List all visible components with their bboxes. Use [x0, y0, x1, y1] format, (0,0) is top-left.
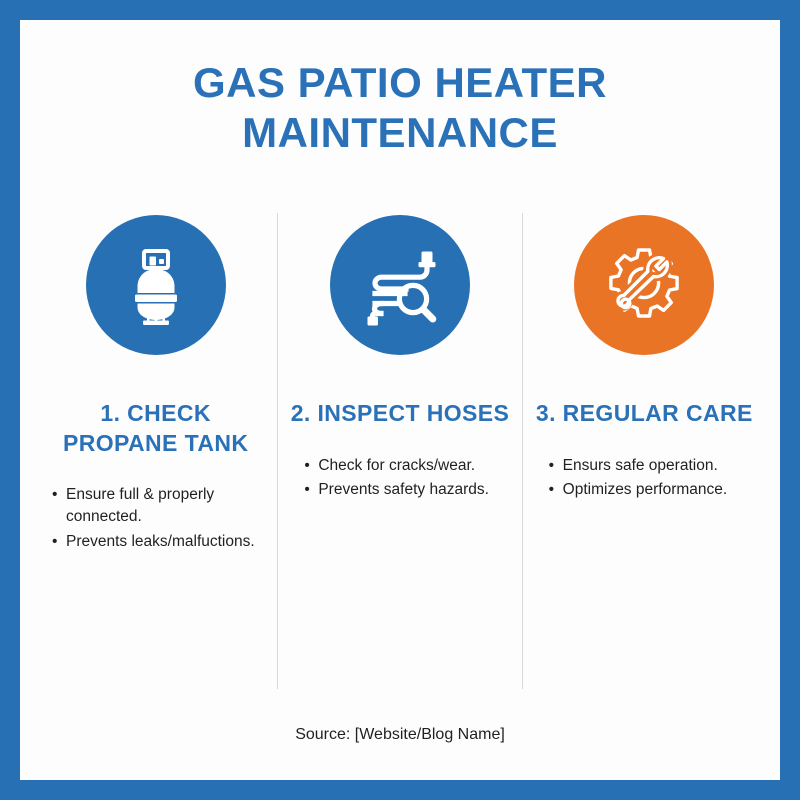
- step-3-bullet-list: • Ensurs safe operation. • Optimizes per…: [523, 455, 766, 504]
- bullet-dot-icon: •: [304, 455, 309, 477]
- infographic-card: GAS PATIO HEATER MAINTENANCE: [20, 20, 780, 780]
- step-column-2: 2. INSPECT HOSES • Check for cracks/wear…: [278, 215, 521, 503]
- title-line-1: GAS PATIO HEATER: [80, 58, 720, 108]
- bullet-text: Optimizes performance.: [563, 481, 728, 498]
- step-2-icon-badge: [330, 215, 470, 355]
- bullet-text: Check for cracks/wear.: [318, 457, 475, 474]
- step-1-bullet-list: • Ensure full & properly connected. • Pr…: [34, 484, 277, 555]
- bullet-dot-icon: •: [304, 479, 309, 501]
- step-column-1: 1. CHECK PROPANE TANK • Ensure full & pr…: [34, 215, 277, 555]
- bullet-dot-icon: •: [549, 479, 554, 501]
- gear-wrench-icon: [600, 241, 688, 329]
- footer: Source: [Website/Blog Name]: [20, 726, 780, 780]
- bullet-text: Ensurs safe operation.: [563, 457, 718, 474]
- step-3-icon-badge: [574, 215, 714, 355]
- page-title: GAS PATIO HEATER MAINTENANCE: [20, 58, 780, 157]
- bullet-dot-icon: •: [549, 455, 554, 477]
- step-1-title: 1. CHECK PROPANE TANK: [34, 399, 277, 458]
- steps-row: 1. CHECK PROPANE TANK • Ensure full & pr…: [20, 215, 780, 689]
- source-label: Source: [Website/Blog Name]: [295, 726, 505, 743]
- list-item: • Prevents leaks/malfuctions.: [52, 531, 271, 553]
- step-2-title: 2. INSPECT HOSES: [283, 399, 518, 428]
- step-column-3: 3. REGULAR CARE • Ensurs safe operation.…: [523, 215, 766, 503]
- bullet-dot-icon: •: [52, 484, 57, 506]
- bullet-dot-icon: •: [52, 531, 57, 553]
- bullet-text: Prevents leaks/malfuctions.: [66, 533, 255, 550]
- list-item: • Prevents safety hazards.: [304, 479, 515, 501]
- step-1-icon-badge: [86, 215, 226, 355]
- list-item: • Optimizes performance.: [549, 479, 760, 501]
- list-item: • Check for cracks/wear.: [304, 455, 515, 477]
- hose-inspection-icon: [357, 242, 443, 328]
- step-2-bullet-list: • Check for cracks/wear. • Prevents safe…: [278, 455, 521, 504]
- bullet-text: Prevents safety hazards.: [318, 481, 489, 498]
- title-line-2: MAINTENANCE: [80, 108, 720, 158]
- list-item: • Ensure full & properly connected.: [52, 484, 271, 529]
- step-3-title: 3. REGULAR CARE: [528, 399, 761, 428]
- list-item: • Ensurs safe operation.: [549, 455, 760, 477]
- bullet-text: Ensure full & properly connected.: [66, 486, 214, 525]
- infographic-canvas: GAS PATIO HEATER MAINTENANCE: [0, 0, 800, 800]
- propane-tank-icon: [113, 242, 199, 328]
